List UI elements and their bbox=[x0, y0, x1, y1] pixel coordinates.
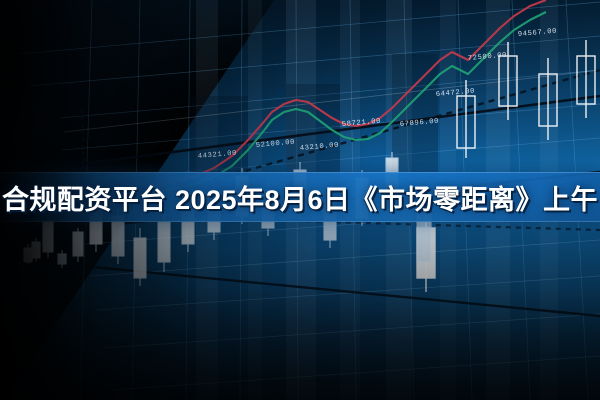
page-title: 合规配资平台 2025年8月6日《市场零距离》上午 bbox=[0, 172, 600, 222]
market-banner-image: 44321.00 52100.00 43210.00 58721.00 6789… bbox=[0, 0, 600, 400]
